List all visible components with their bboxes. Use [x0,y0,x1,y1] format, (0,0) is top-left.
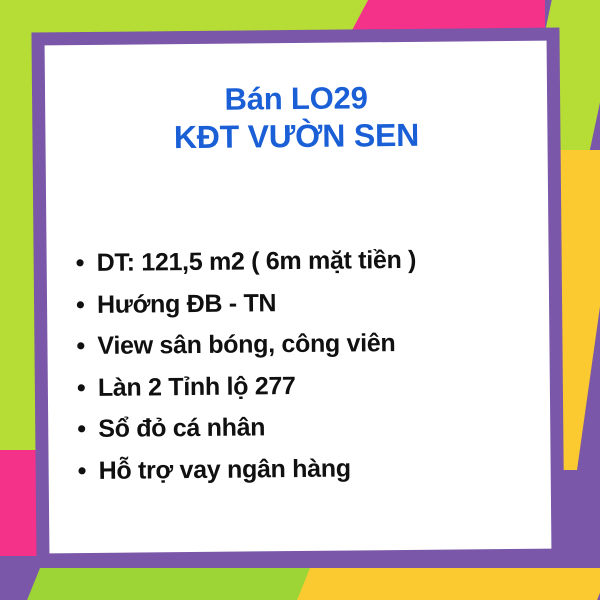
bullet-dot-icon: • [77,368,86,410]
feature-list: •DT: 121,5 m2 ( 6m mặt tiền )•Hướng ĐB -… [74,239,540,492]
page-title: Bán LO29 KĐT VƯỜN SEN [45,79,548,158]
title-line-2: KĐT VƯỜN SEN [45,115,547,158]
bullet-dot-icon: • [77,409,86,451]
green-diagonal-bottom [16,568,340,600]
list-item: •Hướng ĐB - TN [75,280,539,326]
list-item: •Làn 2 Tỉnh lộ 277 [76,363,540,409]
listing-flyer: Bán LO29 KĐT VƯỜN SEN •DT: 121,5 m2 ( 6m… [0,0,600,600]
white-card: Bán LO29 KĐT VƯỜN SEN •DT: 121,5 m2 ( 6m… [45,41,552,554]
card-content: Bán LO29 KĐT VƯỜN SEN •DT: 121,5 m2 ( 6m… [45,41,552,554]
list-item-label: Hướng ĐB - TN [97,289,276,319]
list-item-label: Sổ đỏ cá nhân [98,413,265,443]
list-item-label: View sân bóng, công viên [97,329,395,360]
list-item-label: Làn 2 Tỉnh lộ 277 [98,372,296,402]
purple-card-frame: Bán LO29 KĐT VƯỜN SEN •DT: 121,5 m2 ( 6m… [31,27,564,566]
bullet-dot-icon: • [76,326,85,368]
list-item: •DT: 121,5 m2 ( 6m mặt tiền ) [74,239,538,285]
list-item-label: Hỗ trợ vay ngân hàng [99,454,351,484]
title-line-1: Bán LO29 [45,79,547,120]
bullet-dot-icon: • [77,451,86,493]
list-item-label: DT: 121,5 m2 ( 6m mặt tiền ) [97,246,417,277]
yellow-diagonal-bottom [286,568,600,600]
bullet-dot-icon: • [76,285,85,327]
list-item: •Hỗ trợ vay ngân hàng [76,446,540,492]
list-item: •Sổ đỏ cá nhân [76,405,540,451]
bullet-dot-icon: • [75,243,84,285]
list-item: •View sân bóng, công viên [75,322,539,368]
